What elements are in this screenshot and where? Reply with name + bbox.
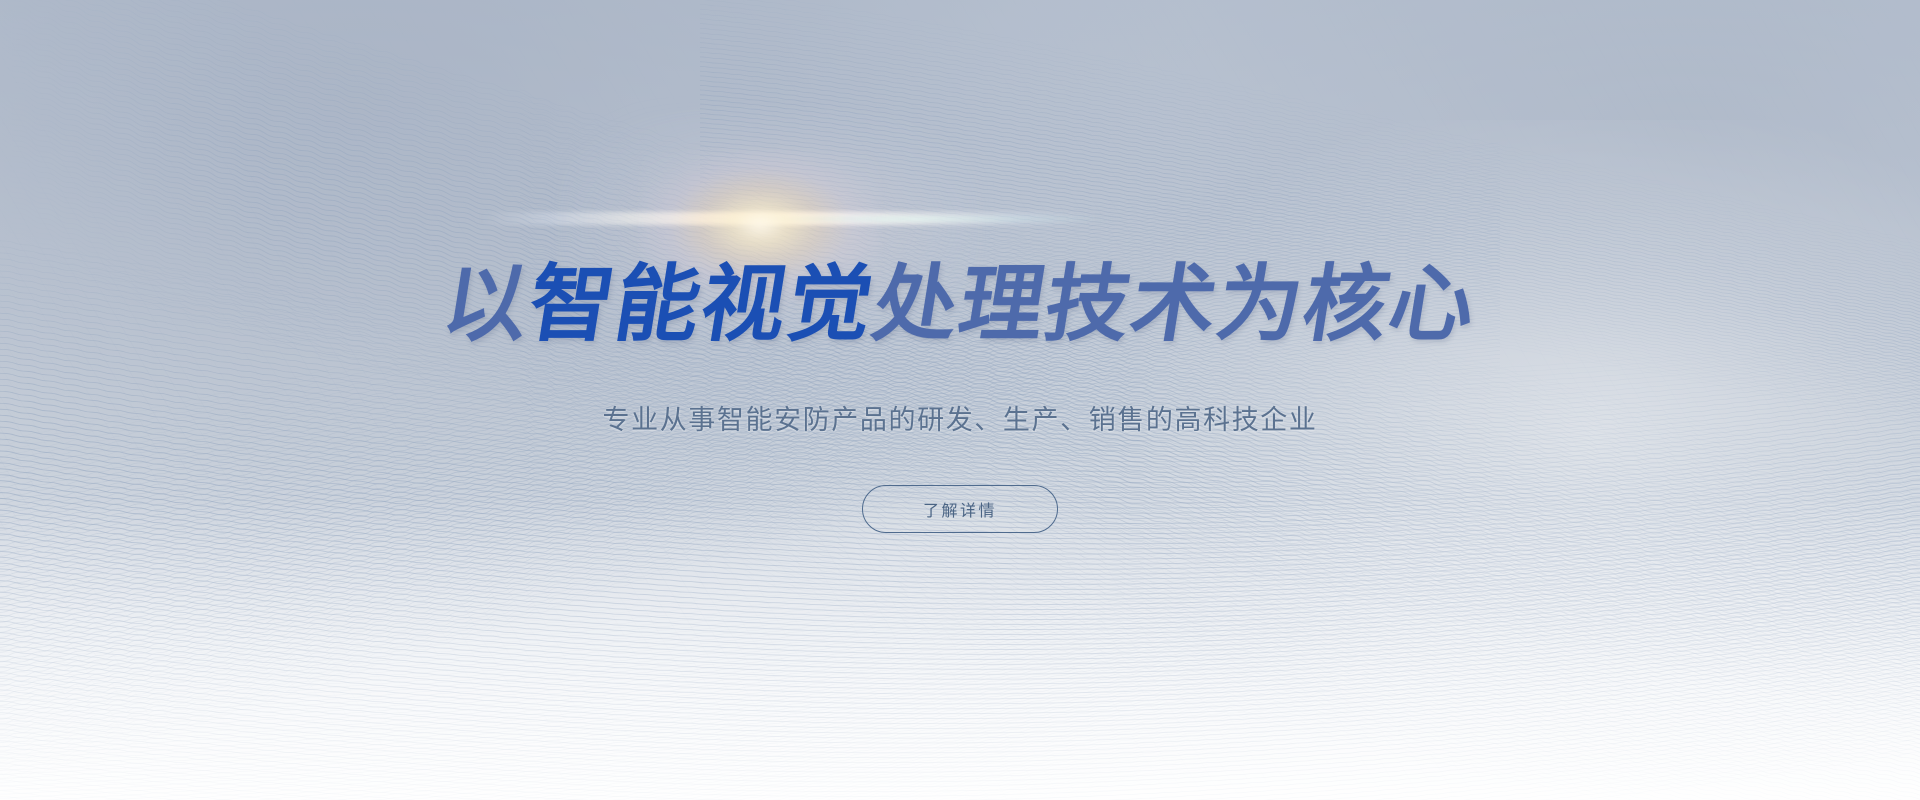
hero-content: 以智能视觉处理技术为核心 专业从事智能安防产品的研发、生产、销售的高科技企业 了… bbox=[0, 0, 1920, 800]
learn-more-button[interactable]: 了解详情 bbox=[862, 485, 1058, 533]
hero-banner: 以智能视觉处理技术为核心 专业从事智能安防产品的研发、生产、销售的高科技企业 了… bbox=[0, 0, 1920, 800]
headline-lead: 以 bbox=[436, 255, 538, 353]
headline-tail: 处理技术为核心 bbox=[866, 255, 1484, 353]
page-title: 以智能视觉处理技术为核心 bbox=[437, 262, 1482, 346]
page-subtitle: 专业从事智能安防产品的研发、生产、销售的高科技企业 bbox=[603, 398, 1318, 437]
headline-highlight: 智能视觉 bbox=[522, 255, 882, 353]
learn-more-button-label: 了解详情 bbox=[923, 497, 997, 521]
